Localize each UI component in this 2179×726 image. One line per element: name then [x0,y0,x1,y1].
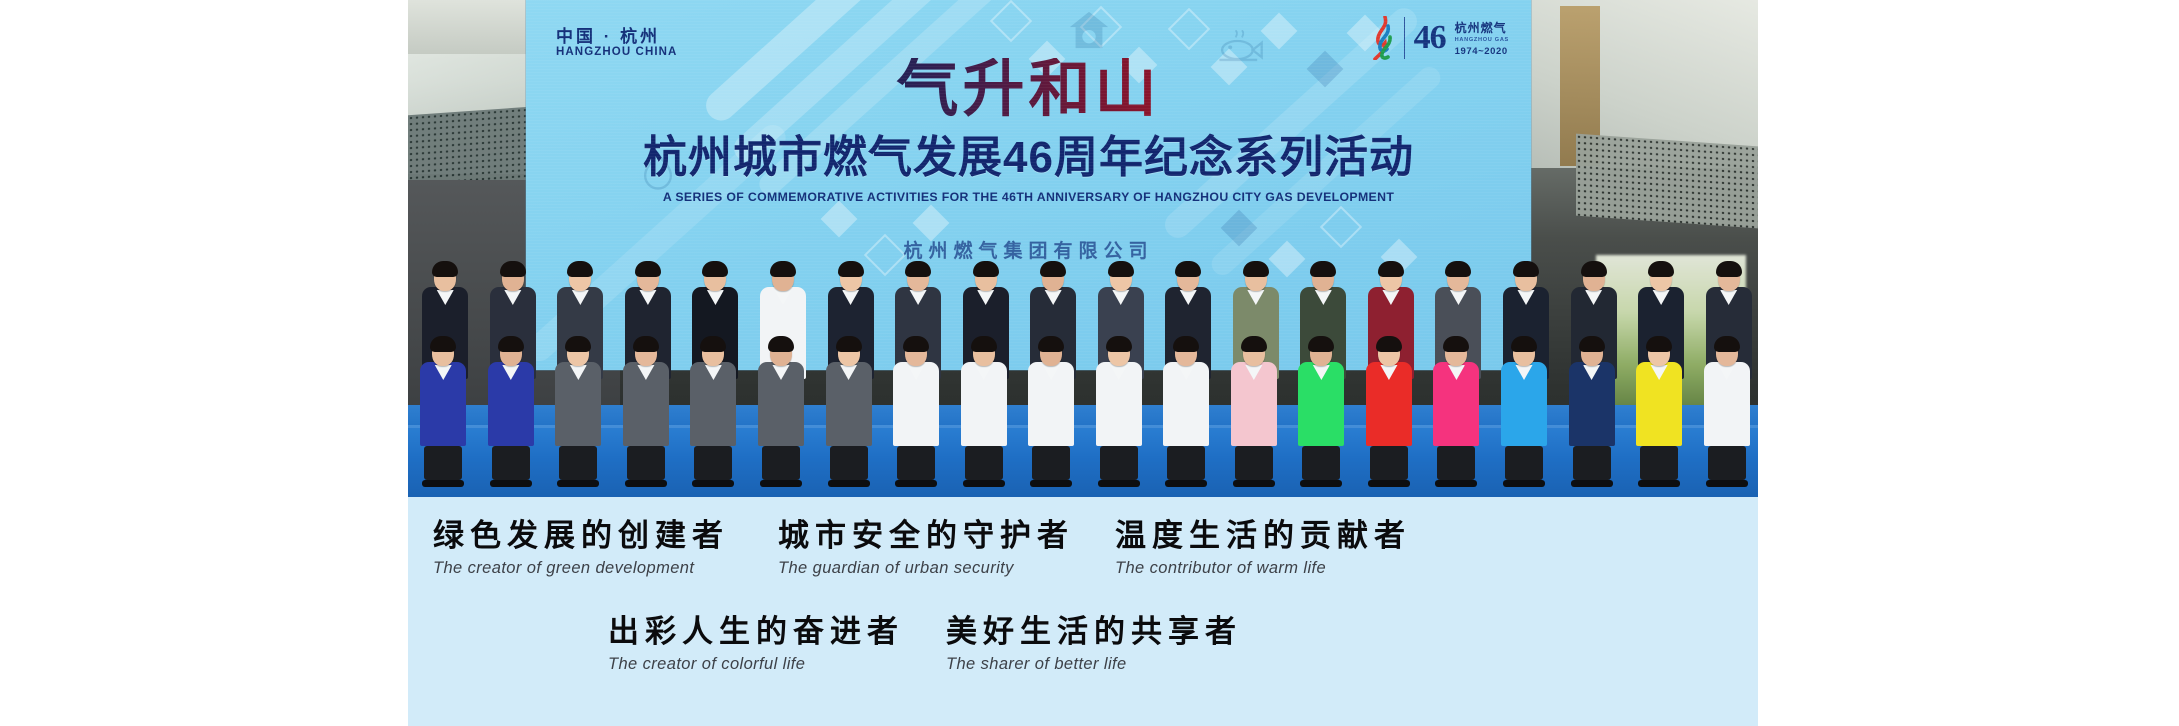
person-head [567,340,589,366]
person-hair [565,336,591,352]
person-legs [897,446,935,480]
anniversary-number: 46 [1414,21,1446,55]
event-logotype: 气升和山 [526,58,1531,120]
person-hair [1108,261,1134,277]
person-hair [1579,336,1605,352]
person-shoes [490,480,532,487]
group-photo: 中国 · 杭州 HANGZHOU CHINA 46 杭州燃气 HANGZHOU … [408,0,1758,497]
person-head [1243,340,1265,366]
caption-item: 城市安全的守护者 The guardian of urban security [778,519,1074,578]
crowd [408,167,1758,497]
person-hair [1175,261,1201,277]
person-hair [1648,261,1674,277]
person-collar [775,290,792,305]
person-head [704,265,726,291]
person-head [1310,340,1332,366]
person-collar [977,290,994,305]
person-legs [762,446,800,480]
person-collar [1178,365,1195,380]
crowd-row-front [408,340,1758,487]
person-collar [504,290,521,305]
person-head [635,340,657,366]
person-hair [1310,261,1336,277]
person-hair [1243,261,1269,277]
person-hair [1308,336,1334,352]
person-shoes [1233,480,1275,487]
person-legs [694,446,732,480]
person-head [1245,265,1267,291]
person-head [432,340,454,366]
person-collar [1110,365,1127,380]
person-legs [559,446,597,480]
person-legs [830,446,868,480]
person-torso [1096,362,1142,446]
caption-cn: 温度生活的贡献者 [1115,519,1411,554]
person-hair [567,261,593,277]
person-collar [1380,365,1397,380]
person-hair [905,261,931,277]
person-hair [635,261,661,277]
person-hair [1378,261,1404,277]
person-head [1110,265,1132,291]
person-torso [420,362,466,446]
person-hair [432,261,458,277]
person-collar [502,365,519,380]
person-legs [1167,446,1205,480]
person-collar [1651,365,1668,380]
person-head [840,265,862,291]
person-head [1380,265,1402,291]
person-torso [1231,362,1277,446]
person-collar [1583,365,1600,380]
person-hair [768,336,794,352]
caption-en: The guardian of urban security [778,559,1074,578]
person-collar [910,290,927,305]
person-hair [1445,261,1471,277]
person-hair [1513,261,1539,277]
person-collar [435,365,452,380]
person-head [434,265,456,291]
person-hair [770,261,796,277]
person-torso [623,362,669,446]
person-torso [826,362,872,446]
caption-en: The creator of green development [433,559,729,578]
person-collar [1518,290,1535,305]
person-shoes [1165,480,1207,487]
person-legs [1437,446,1475,480]
person-shoes [1638,480,1680,487]
person-hair [498,336,524,352]
person-collar [1045,290,1062,305]
person-collar [840,365,857,380]
caption-item: 温度生活的贡献者 The contributor of warm life [1115,519,1411,578]
person-legs [1573,446,1611,480]
person-head [1650,265,1672,291]
caption-item: 美好生活的共享者 The sharer of better life [946,615,1242,674]
person-head [1175,340,1197,366]
person-head [1515,265,1537,291]
person-torso [1501,362,1547,446]
person-legs [492,446,530,480]
person-collar [1720,290,1737,305]
person-collar [1315,290,1332,305]
person-collar [705,365,722,380]
person-torso [555,362,601,446]
person-head [1312,265,1334,291]
person-head [838,340,860,366]
person-head [1581,340,1603,366]
diamond-icon [1168,8,1210,50]
person-hair [430,336,456,352]
person-head [702,340,724,366]
person-head [569,265,591,291]
person-torso [488,362,534,446]
person-head [1583,265,1605,291]
person-shoes [963,480,1005,487]
person-collar [1448,365,1465,380]
person-shoes [625,480,667,487]
person-legs [1235,446,1273,480]
person-hair [1241,336,1267,352]
person-collar [1180,290,1197,305]
person-torso [690,362,736,446]
person-head [772,265,794,291]
caption-item: 绿色发展的创建者 The creator of green developmen… [433,519,729,578]
person-hair [702,261,728,277]
location-en: HANGZHOU CHINA [556,46,677,58]
person-legs [1505,446,1543,480]
person-head [1042,265,1064,291]
person-torso [1366,362,1412,446]
person-shoes [1571,480,1613,487]
person-torso [758,362,804,446]
person-collar [639,290,656,305]
person-collar [975,365,992,380]
person-head [637,265,659,291]
person-shoes [1368,480,1410,487]
diamond-icon [990,0,1032,42]
caption-panel: 绿色发展的创建者 The creator of green developmen… [408,497,1758,726]
person-head [1513,340,1535,366]
person-shoes [692,480,734,487]
brand-divider [1404,17,1405,59]
person-hair [971,336,997,352]
person-legs [1708,446,1746,480]
person-head [907,265,929,291]
person-torso [961,362,1007,446]
brand-lockup: 46 杭州燃气 HANGZHOU GAS 1974~2020 [1365,16,1509,60]
person-head [1447,265,1469,291]
person-shoes [422,480,464,487]
person-collar [1247,290,1264,305]
person-hair [836,336,862,352]
person-hair [1038,336,1064,352]
brand-name-en: HANGZHOU GAS [1455,37,1509,43]
caption-item: 出彩人生的奋进者 The creator of colorful life [608,615,904,674]
person-hair [1511,336,1537,352]
screenshot-root: 中国 · 杭州 HANGZHOU CHINA 46 杭州燃气 HANGZHOU … [0,0,2179,726]
person-shoes [1706,480,1748,487]
person-torso [1028,362,1074,446]
person-collar [437,290,454,305]
person-head [770,340,792,366]
person-head [973,340,995,366]
person-collar [570,365,587,380]
person-collar [1112,290,1129,305]
person-hair [633,336,659,352]
caption-cn: 城市安全的守护者 [778,519,1074,554]
person-collar [1245,365,1262,380]
person-hair [500,261,526,277]
person-collar [1382,290,1399,305]
caption-en: The contributor of warm life [1115,559,1411,578]
person-legs [1302,446,1340,480]
person-head [1108,340,1130,366]
person-collar [1653,290,1670,305]
person-shoes [1300,480,1342,487]
person-head [500,340,522,366]
person-collar [773,365,790,380]
person-hair [1581,261,1607,277]
caption-cn: 绿色发展的创建者 [433,519,729,554]
person-collar [842,290,859,305]
caption-cn: 出彩人生的奋进者 [608,615,904,650]
person-legs [627,446,665,480]
person-head [502,265,524,291]
person-head [975,265,997,291]
person-torso [1569,362,1615,446]
person-head [1040,340,1062,366]
caption-cn: 美好生活的共享者 [946,615,1242,650]
caption-en: The creator of colorful life [608,655,904,674]
person-collar [572,290,589,305]
person-shoes [760,480,802,487]
person-head [1445,340,1467,366]
person-legs [965,446,1003,480]
person-hair [1106,336,1132,352]
person-shoes [895,480,937,487]
brand-name-cn: 杭州燃气 [1455,19,1509,36]
person-shoes [1098,480,1140,487]
person-hair [1040,261,1066,277]
person-torso [893,362,939,446]
person-head [1718,265,1740,291]
person-hair [1173,336,1199,352]
person-hair [1716,261,1742,277]
person-hair [1646,336,1672,352]
person-collar [637,365,654,380]
person-hair [700,336,726,352]
caption-en: The sharer of better life [946,655,1242,674]
person-shoes [828,480,870,487]
person-collar [1585,290,1602,305]
person-collar [707,290,724,305]
person-head [1716,340,1738,366]
house-icon [1066,6,1112,52]
person-torso [1704,362,1750,446]
person-head [1378,340,1400,366]
banner-content: 中国 · 杭州 HANGZHOU CHINA 46 杭州燃气 HANGZHOU … [408,0,1758,726]
person-shoes [1435,480,1477,487]
person-legs [1032,446,1070,480]
brand-years: 1974~2020 [1455,46,1509,57]
person-shoes [1030,480,1072,487]
person-hair [1376,336,1402,352]
person-hair [1714,336,1740,352]
person-head [905,340,927,366]
person-shoes [1503,480,1545,487]
person-hair [1443,336,1469,352]
person-torso [1298,362,1344,446]
person-torso [1433,362,1479,446]
person-torso [1163,362,1209,446]
person-head [1648,340,1670,366]
person-hair [903,336,929,352]
person-legs [1640,446,1678,480]
person-head [1177,265,1199,291]
person-hair [838,261,864,277]
person-hair [973,261,999,277]
person-collar [1516,365,1533,380]
person-collar [1313,365,1330,380]
person-collar [908,365,925,380]
person-collar [1043,365,1060,380]
location-cn: 中国 · 杭州 [556,22,660,47]
person-collar [1718,365,1735,380]
person-torso [1636,362,1682,446]
person-collar [1450,290,1467,305]
person-legs [424,446,462,480]
flame-logo-icon [1365,16,1395,60]
person-shoes [557,480,599,487]
person-legs [1100,446,1138,480]
person-legs [1370,446,1408,480]
